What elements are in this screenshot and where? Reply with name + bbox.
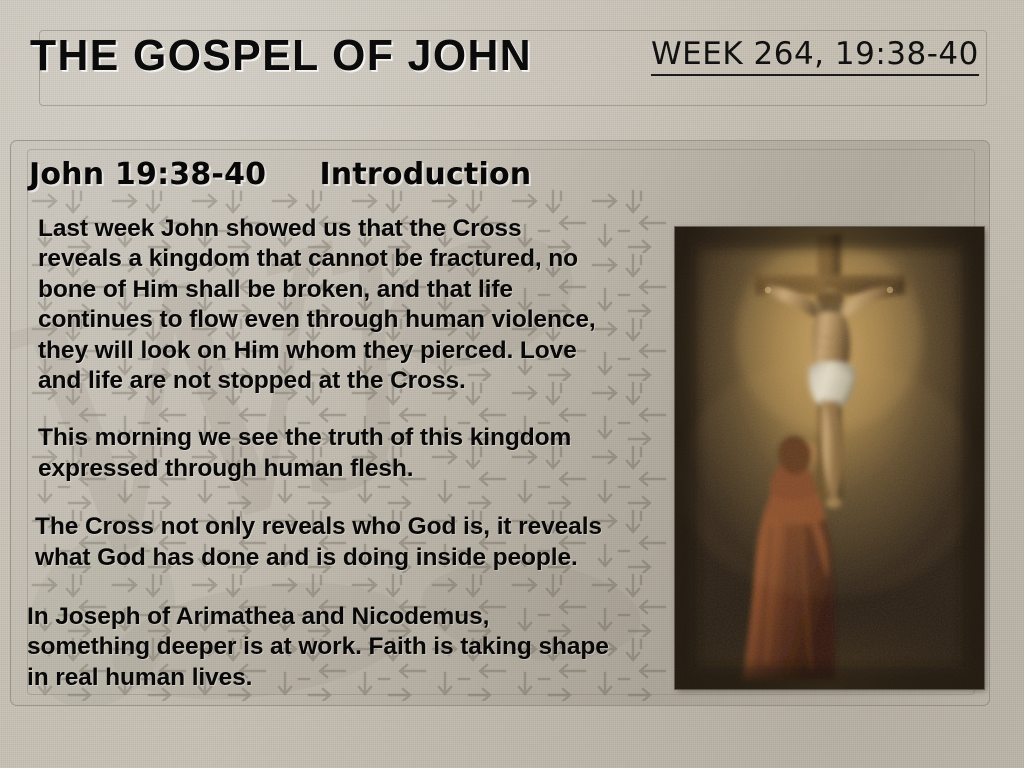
crucifixion-artwork-svg: [675, 227, 984, 689]
body-copy: Last week John showed us that the Cross …: [25, 214, 673, 693]
paragraph-1: Last week John showed us that the Cross …: [25, 214, 673, 396]
week-reference-label: WEEK 264, 19:38-40: [651, 36, 979, 76]
slide-canvas: THE GOSPEL OF JOHN WEEK 264, 19:38-40 W …: [0, 0, 1024, 768]
slide-heading: John 19:38-40 Introduction: [29, 157, 531, 192]
paragraph-3: The Cross not only reveals who God is, i…: [25, 512, 673, 573]
page-title: THE GOSPEL OF JOHN: [30, 31, 532, 81]
content-panel: W J: [10, 140, 990, 706]
paragraph-2: This morning we see the truth of this ki…: [25, 423, 673, 484]
paragraph-4: In Joseph of Arimathea and Nicodemus, so…: [25, 602, 673, 693]
crucifixion-painting: [675, 227, 984, 689]
